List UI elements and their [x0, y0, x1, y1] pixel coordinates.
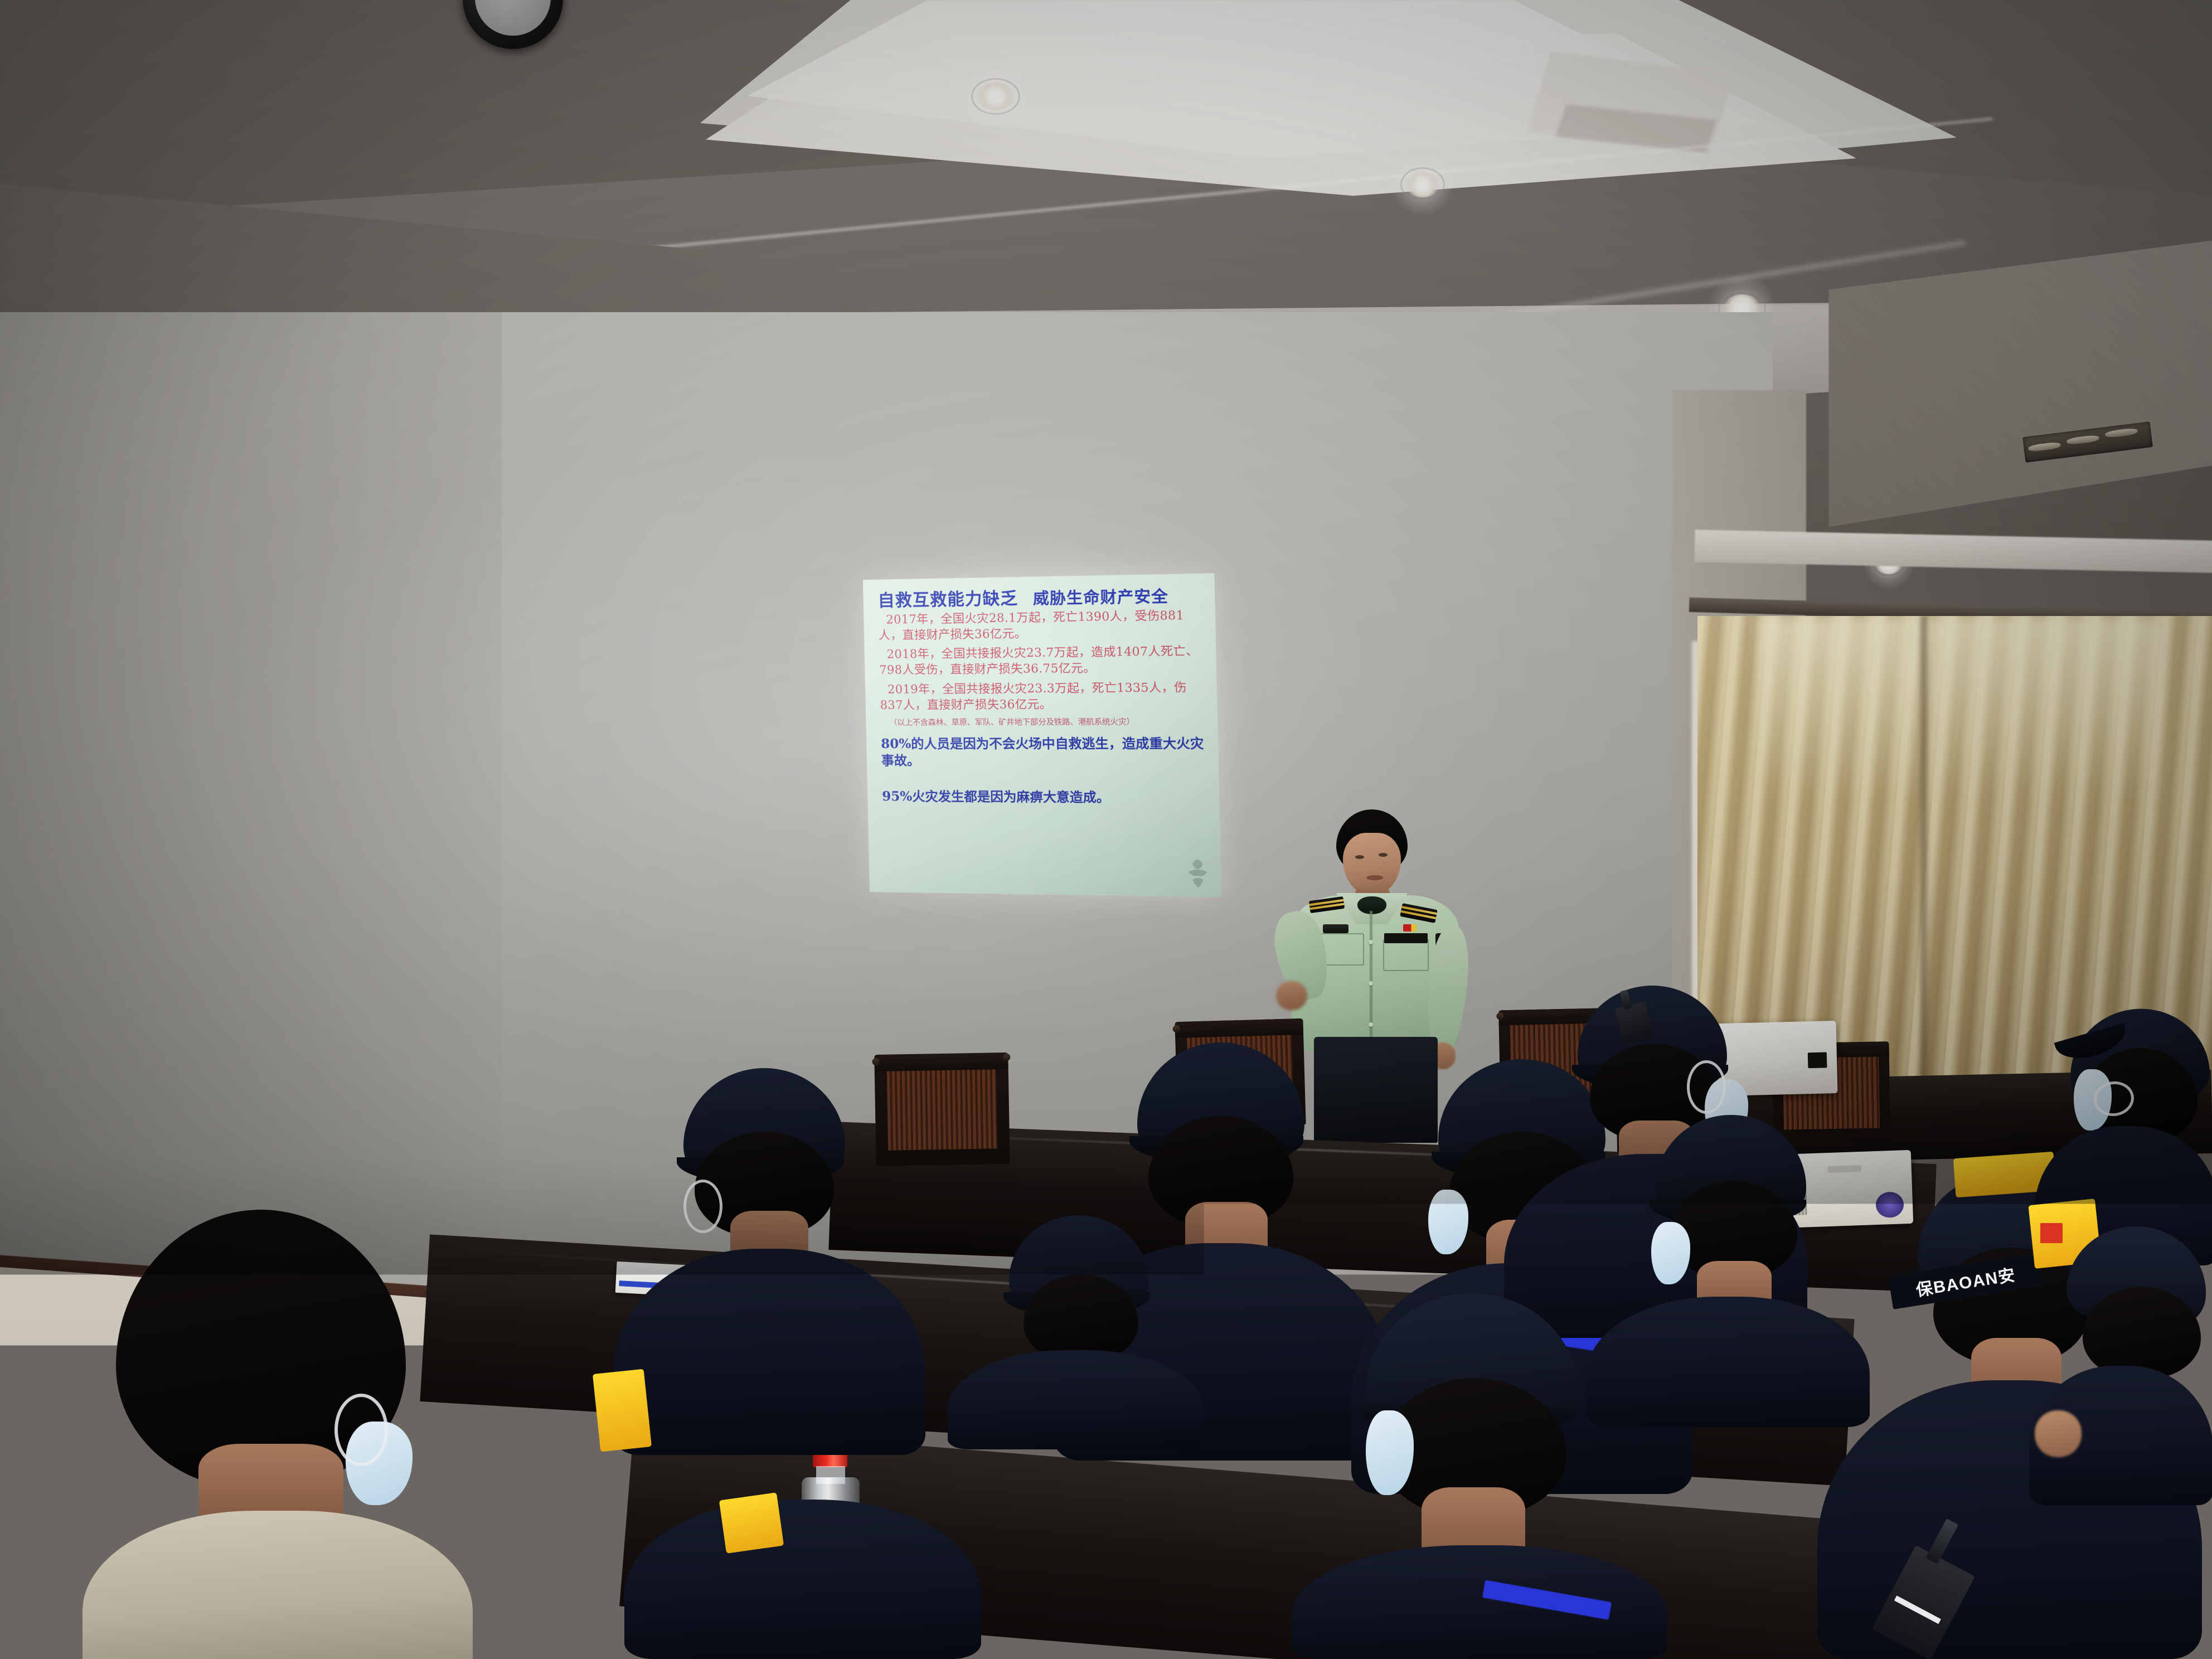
- presenter-eye-left: [1355, 855, 1364, 859]
- audience-armband: [593, 1369, 652, 1452]
- presenter-flag-pin: [1403, 924, 1417, 932]
- audience-jacket: [613, 1249, 925, 1455]
- radio-stripe: [1894, 1595, 1941, 1624]
- downlight-1: [977, 83, 1015, 110]
- presenter-shirt-button: [1369, 940, 1373, 944]
- curtain-backlight-glow: [1759, 616, 2160, 800]
- presenter-name-tag: [1384, 933, 1428, 943]
- audience-member-foreground-left: [56, 1210, 479, 1659]
- audience-member-front-low: [624, 1449, 981, 1659]
- audience-member-left-rear: [948, 1215, 1204, 1449]
- audience-jacket: [1587, 1297, 1870, 1427]
- slide-paragraph: 2017年，全国火灾28.1万起，死亡1390人，受伤881人，直接财产损失36…: [878, 608, 1201, 643]
- audience-member-left-center: [602, 1059, 937, 1449]
- conference-room-photo: 自救互救能力缺乏 威胁生命财产安全 2017年，全国火灾28.1万起，死亡139…: [0, 0, 2212, 1659]
- audience-mask-ear-strap: [334, 1394, 388, 1466]
- audience-member-far-right: [1985, 987, 2212, 1265]
- slide-highlight-1: 80%的人员是因为不会火场中自救逃生，造成重大火灾事故。: [881, 735, 1205, 770]
- audience-mask-ear-strap: [683, 1180, 722, 1233]
- wall-clock-face: [475, 0, 551, 36]
- audience-face-mask: [1428, 1190, 1468, 1254]
- presenter-eye-right: [1379, 853, 1388, 857]
- presenter-unit-badge: [1323, 924, 1348, 933]
- presenter-shirt-placket: [1370, 911, 1372, 1050]
- slide-footnote: （以上不含森林、草原、军队、矿井地下部分及铁路、港航系统火灾）: [889, 716, 1204, 728]
- curtain-center-seam: [1918, 616, 1930, 1112]
- vent-slat: [2028, 442, 2061, 452]
- audience-armband: [719, 1492, 784, 1554]
- audience-face-mask: [1651, 1222, 1690, 1284]
- downlight-2: [1406, 172, 1439, 197]
- audience-beige-top: [83, 1511, 473, 1659]
- presenter-shirt-button: [1369, 1022, 1373, 1027]
- audience-mask-ear-strap: [1687, 1060, 1726, 1114]
- slide-watermark-icon: [1183, 857, 1211, 889]
- slide-title-right: 威胁生命财产安全: [1033, 588, 1169, 608]
- presenter-gesturing-hand: [1276, 981, 1307, 1010]
- audience-hand: [2035, 1410, 2082, 1457]
- slide-title: 自救互救能力缺乏 威胁生命财产安全: [877, 586, 1201, 610]
- slide-highlight-2: 95%火灾发生都是因为麻痹大意造成。: [882, 788, 1205, 807]
- vent-slat: [2105, 428, 2138, 438]
- presenter-mouth: [1366, 875, 1383, 880]
- projected-slide: 自救互救能力缺乏 威胁生命财产安全 2017年，全国火灾28.1万起，死亡139…: [863, 573, 1222, 897]
- slide-highlight-1-text: 80%的人员是因为不会火场中自救逃生，造成重大火灾事故。: [881, 736, 1204, 768]
- radio-stripe: [1258, 1596, 1304, 1616]
- slide-highlight-2-text: 95%火灾发生都是因为麻痹大意造成。: [882, 789, 1110, 805]
- vent-slat: [2067, 435, 2099, 445]
- slide-title-left: 自救互救能力缺乏: [877, 589, 1018, 610]
- audience-member-right-rear: [2029, 1226, 2212, 1505]
- presenter-chest-pocket-right: [1383, 939, 1429, 971]
- audience-jacket: [948, 1350, 1204, 1449]
- audience-jacket: [624, 1500, 981, 1659]
- slide-paragraph: 2019年，全国共接报火灾23.3万起，死亡1335人，伤837人，直接财产损失…: [880, 680, 1203, 713]
- presenter-shirt-button: [1369, 981, 1373, 986]
- slide-body: 2017年，全国火灾28.1万起，死亡1390人，受伤881人，直接财产损失36…: [878, 608, 1203, 713]
- audience-member-mid-right: [1583, 1115, 1873, 1427]
- slide-paragraph: 2018年，全国共接报火灾23.7万起，造成1407人死亡、798人受伤，直接财…: [879, 644, 1202, 678]
